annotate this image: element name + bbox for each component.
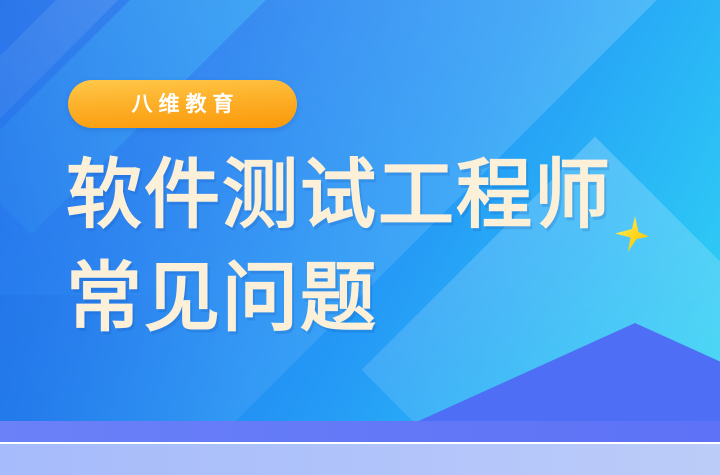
brand-badge-label: 八维教育 (126, 94, 240, 115)
brand-badge: 八维教育 (68, 80, 297, 128)
headline-block: 软件测试工程师 常见问题 (66, 144, 706, 351)
four-point-star-icon (615, 216, 649, 252)
promo-banner: 八维教育 软件测试工程师 常见问题 (0, 0, 720, 475)
headline-line-2: 常见问题 (66, 247, 706, 350)
headline-line-1: 软件测试工程师 (66, 144, 706, 247)
footer-band-divider (0, 442, 720, 444)
footer-band-purple (0, 421, 720, 443)
footer-band-lavender (0, 444, 720, 475)
